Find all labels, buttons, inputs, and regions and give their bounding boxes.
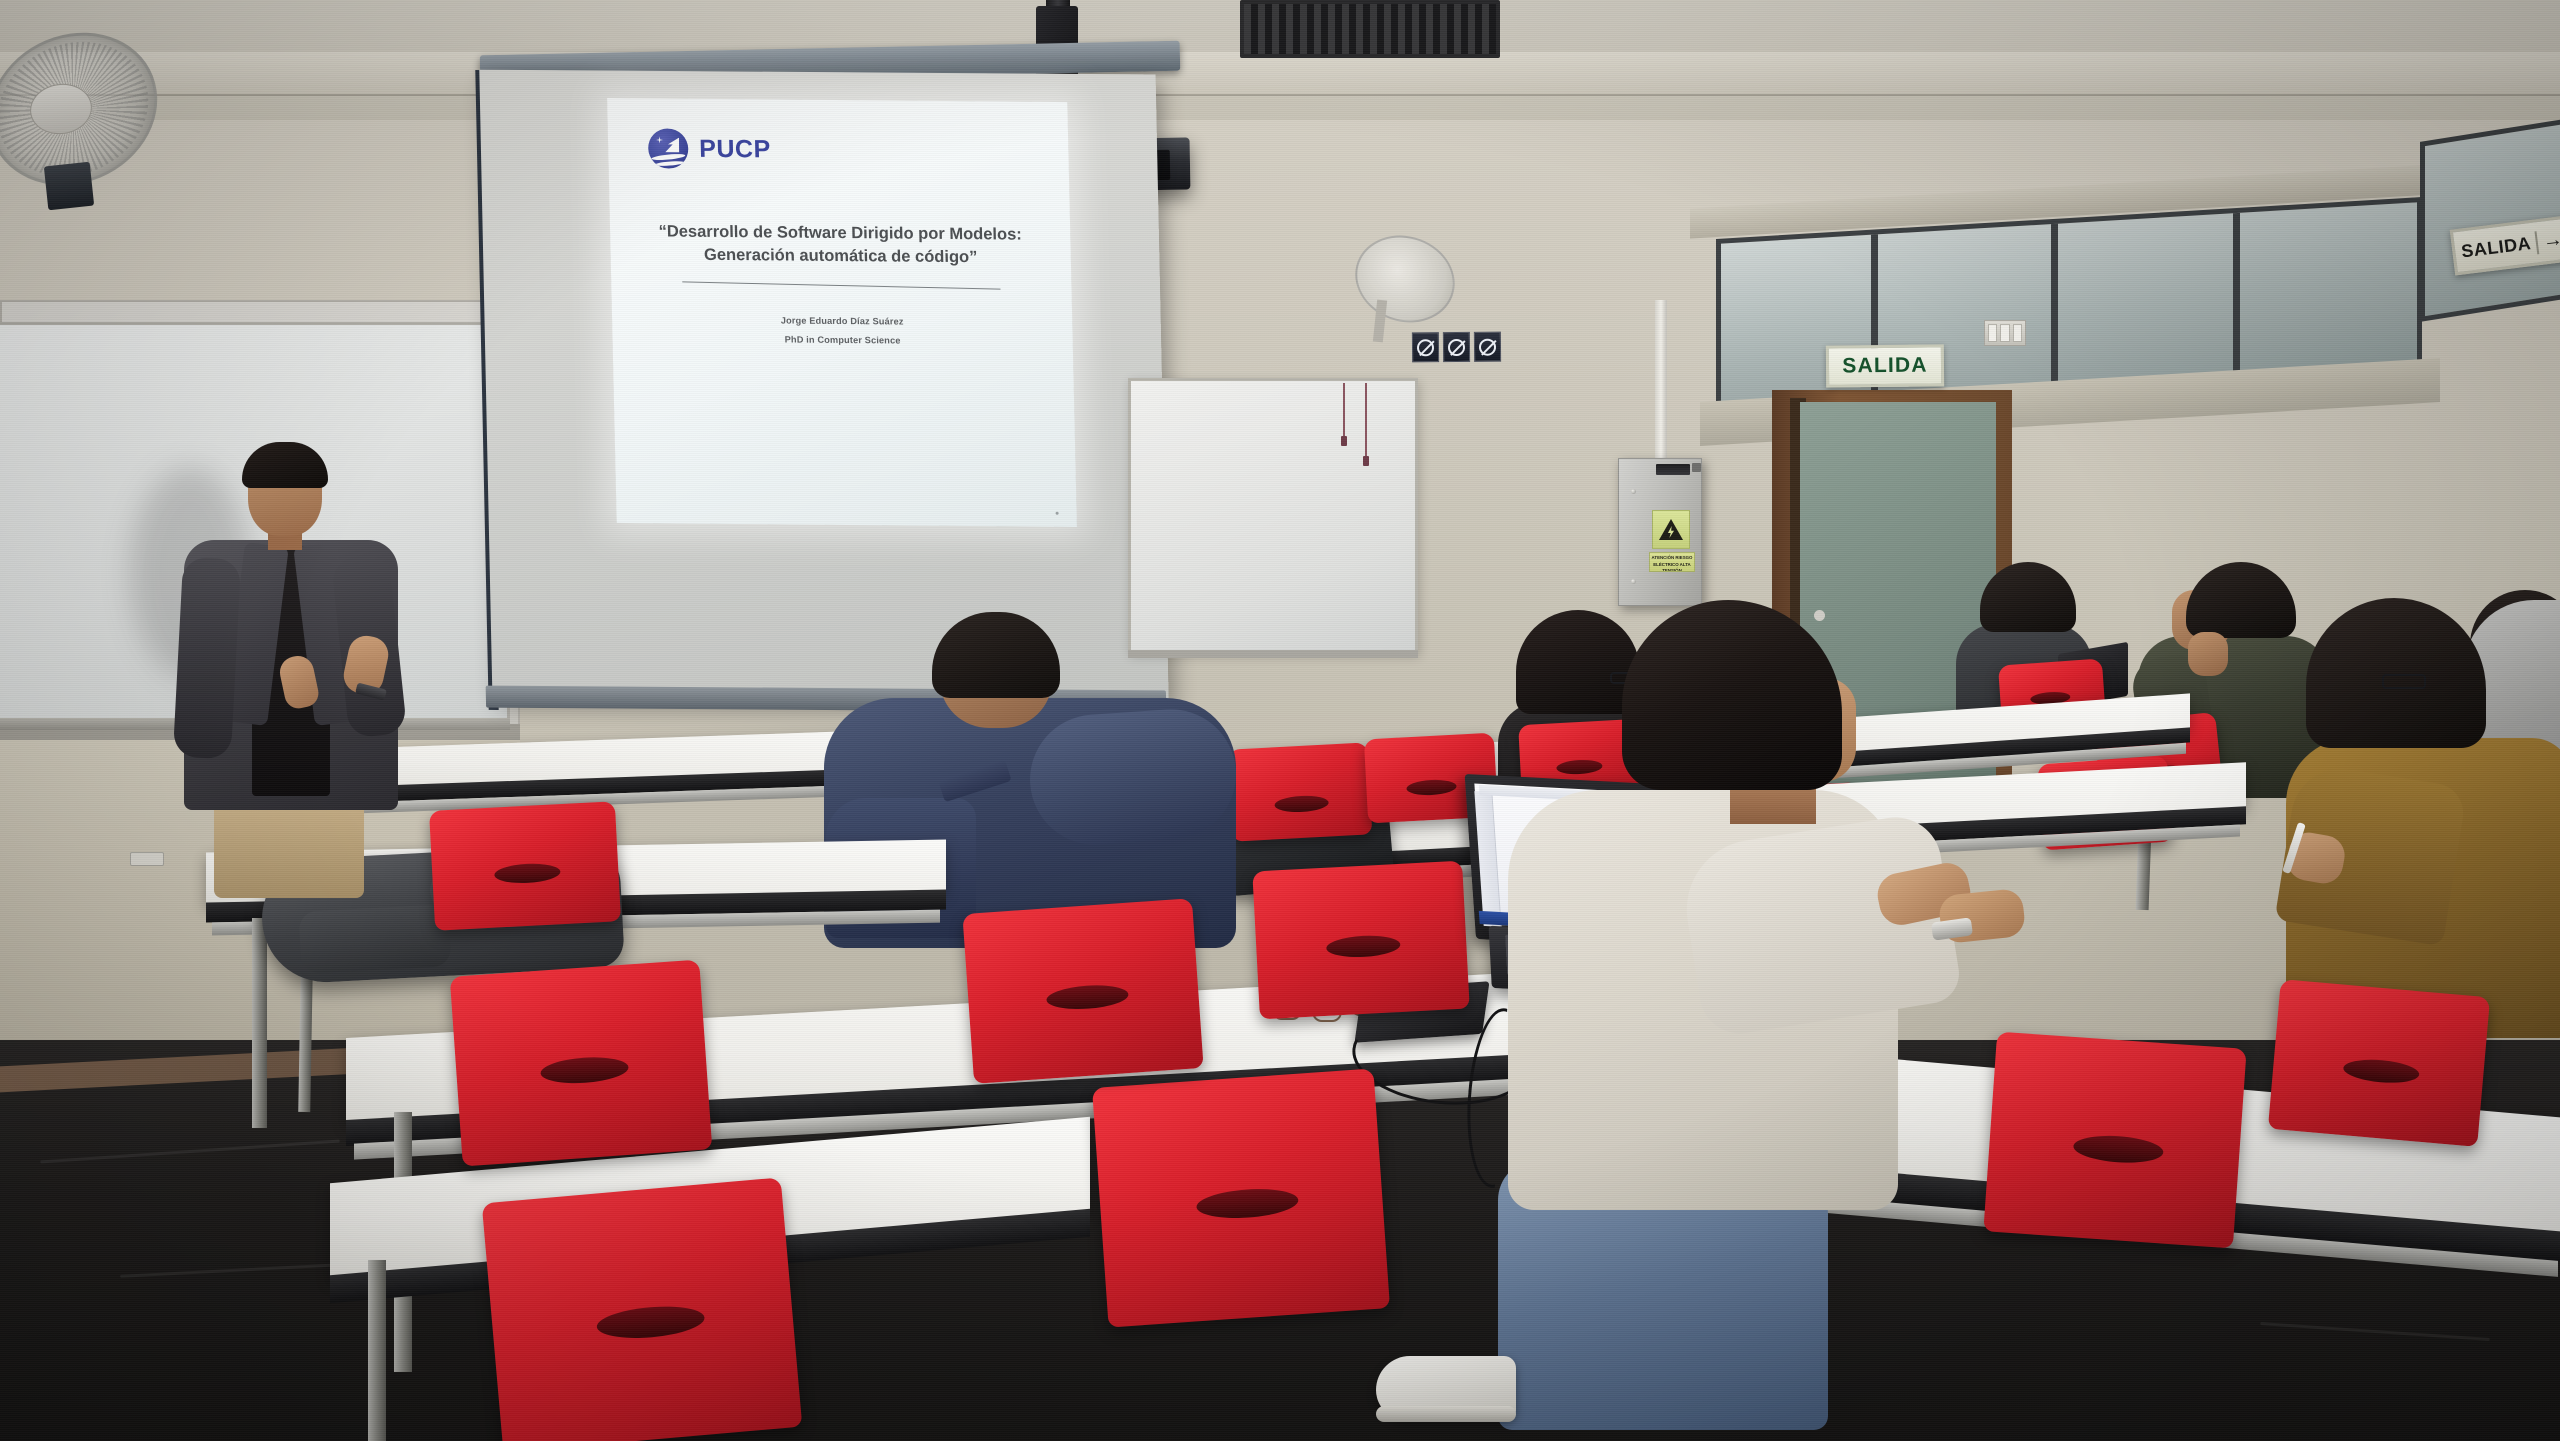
ceiling-vent-icon bbox=[1240, 0, 1500, 58]
no-food-drink-icon bbox=[1412, 332, 1439, 362]
wall-fan-right bbox=[1355, 236, 1455, 328]
student-hand bbox=[2188, 632, 2228, 676]
chair-back[interactable] bbox=[1252, 861, 1469, 1020]
fan-motor bbox=[44, 162, 94, 211]
slide-logo-row: PUCP bbox=[648, 128, 1043, 171]
backpack-pocket bbox=[298, 904, 451, 974]
whiteboard-front bbox=[1128, 378, 1418, 654]
student-foreground bbox=[1480, 600, 2100, 1430]
panel-warning-label: ATENCIÓN RIESGO ELÉCTRICO ALTA TENSIÓN bbox=[1649, 552, 1695, 572]
pucp-wordmark: PUCP bbox=[699, 134, 771, 164]
student-knee bbox=[1414, 1224, 1594, 1364]
exit-sign-text: SALIDA bbox=[2460, 233, 2532, 262]
desk-leg bbox=[252, 918, 267, 1128]
slide-divider bbox=[682, 281, 1000, 289]
student-hair bbox=[2306, 598, 2486, 748]
whiteboard-clip bbox=[130, 852, 164, 866]
panel-button[interactable] bbox=[1692, 463, 1701, 472]
student-mustard bbox=[2286, 598, 2560, 1038]
slide-author: Jorge Eduardo Díaz Suárez bbox=[638, 314, 1046, 328]
projected-slide: PUCP “Desarrollo de Software Dirigido po… bbox=[607, 98, 1077, 527]
chair-back[interactable] bbox=[450, 960, 713, 1167]
slide-title-line2: Generación automática de código” bbox=[642, 244, 1039, 271]
student-hair bbox=[2186, 562, 2296, 638]
panel-display-slot bbox=[1656, 464, 1690, 475]
sneaker-sole bbox=[1376, 1406, 1516, 1422]
no-mobile-phone-icon bbox=[1474, 332, 1501, 362]
no-smoking-icon bbox=[1443, 332, 1470, 362]
light-switch-plate[interactable] bbox=[1984, 320, 2026, 346]
slide-page-marker bbox=[1056, 512, 1059, 515]
presenter bbox=[170, 448, 430, 868]
slide-degree: PhD in Computer Science bbox=[638, 333, 1046, 347]
slide-title-line1: “Desarrollo de Software Dirigido por Mod… bbox=[642, 220, 1039, 247]
desk-leg bbox=[368, 1260, 386, 1441]
prohibition-signs bbox=[1412, 332, 1501, 363]
wall-fan-left bbox=[0, 34, 158, 194]
fan-cage-icon bbox=[1355, 231, 1456, 328]
exit-sign-over-door: SALIDA bbox=[1826, 344, 1944, 387]
classroom-scene: PUCP “Desarrollo de Software Dirigido po… bbox=[0, 0, 2560, 1441]
student-hood bbox=[1026, 705, 1241, 849]
chair-back[interactable] bbox=[429, 801, 621, 931]
chair-back[interactable] bbox=[962, 898, 1203, 1084]
exit-arrow-icon: → bbox=[2534, 228, 2560, 254]
chair-back[interactable] bbox=[1092, 1068, 1390, 1327]
presenter-arm bbox=[173, 557, 241, 760]
ceiling-beam bbox=[0, 52, 2560, 96]
presenter-hair bbox=[242, 442, 328, 488]
high-voltage-triangle-icon bbox=[1652, 510, 1690, 549]
student-hair bbox=[1622, 600, 1842, 790]
eyeglasses-icon bbox=[2382, 674, 2426, 689]
electrical-conduit bbox=[1655, 300, 1667, 460]
exit-sign-text: SALIDA bbox=[1842, 354, 1928, 379]
student-hair bbox=[932, 612, 1060, 698]
pucp-crest-icon bbox=[648, 128, 689, 168]
chair-back[interactable] bbox=[482, 1177, 803, 1441]
chair-back[interactable] bbox=[2268, 979, 2490, 1147]
slide-title: “Desarrollo de Software Dirigido por Mod… bbox=[642, 220, 1039, 270]
